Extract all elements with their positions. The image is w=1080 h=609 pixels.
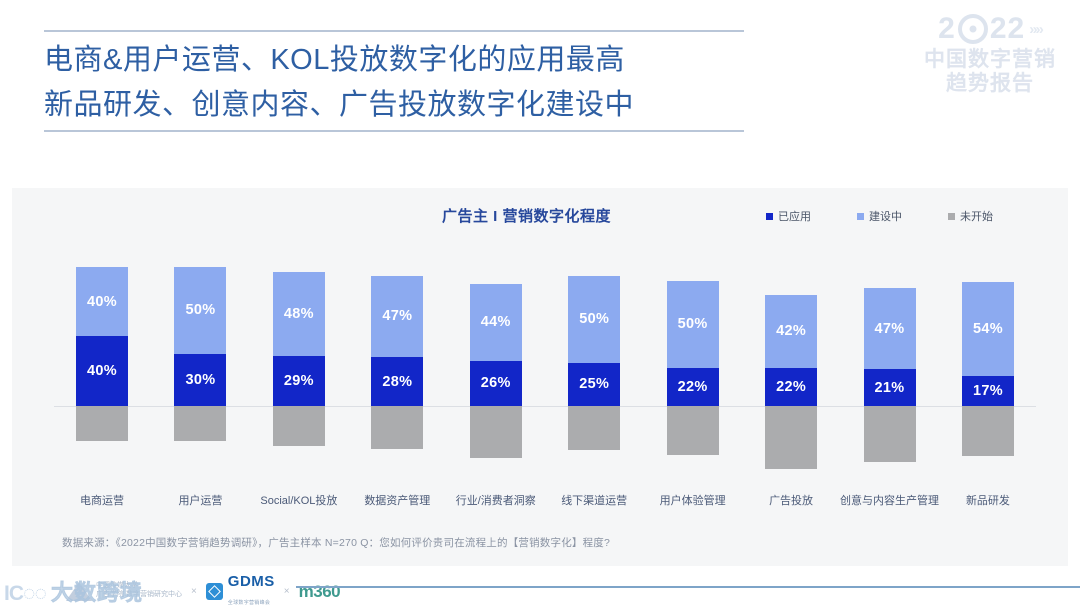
bar-segment-not-started[interactable] [765, 406, 817, 469]
bar-stack: 44%26% [470, 284, 522, 458]
bar-column[interactable]: 47%21%创意与内容生产管理 [842, 188, 938, 566]
bar-column[interactable]: 50%25%线下渠道运营 [546, 188, 642, 566]
category-label: 新品研发 [966, 492, 1010, 508]
bar-segment-applied[interactable]: 21% [864, 369, 916, 406]
bar-segment-applied[interactable]: 28% [371, 357, 423, 406]
eye-icon [958, 14, 988, 44]
bar-value-label: 26% [481, 375, 511, 391]
headline-line-2: 新品研发、创意内容、广告投放数字化建设中 [44, 85, 744, 130]
footer-rule [296, 586, 1080, 588]
bar-stack: 50%22% [667, 281, 719, 455]
bar-value-label: 47% [382, 308, 412, 324]
bar-stack: 47%21% [864, 288, 916, 462]
bar-segment-applied[interactable]: 17% [962, 376, 1014, 406]
bar-group: 40%40%电商运营50%30%用户运营48%29%Social/KOL投放47… [54, 188, 1036, 566]
bar-value-label: 44% [481, 314, 511, 330]
bar-segment-applied[interactable]: 30% [174, 354, 226, 406]
bar-value-label: 40% [87, 294, 117, 310]
bar-segment-building[interactable]: 42% [765, 295, 817, 368]
category-label: 用户体验管理 [660, 492, 726, 508]
category-label: 行业/消费者洞察 [456, 492, 536, 508]
bar-stack: 42%22% [765, 295, 817, 469]
academy-logo: 中国传媒大学 广告学院 数字营销研究中心 [66, 582, 182, 601]
bar-segment-building[interactable]: 50% [568, 276, 620, 363]
bar-value-label: 29% [284, 373, 314, 389]
chart-plot-area: 40%40%电商运营50%30%用户运营48%29%Social/KOL投放47… [12, 188, 1068, 566]
bar-segment-applied[interactable]: 40% [76, 336, 128, 406]
bar-segment-building[interactable]: 44% [470, 284, 522, 361]
bar-stack: 48%29% [273, 272, 325, 446]
bar-value-label: 25% [579, 376, 609, 392]
bar-column[interactable]: 47%28%数据资产管理 [349, 188, 445, 566]
headline-line-1: 电商&用户运营、KOL投放数字化的应用最高 [44, 32, 744, 85]
category-label: Social/KOL投放 [260, 492, 337, 508]
headline-rule-bottom [44, 130, 744, 132]
source-note: 数据来源：《2022中国数字营销趋势调研》，广告主样本 N=270 Q：您如何评… [62, 535, 610, 550]
bar-value-label: 50% [678, 316, 708, 332]
category-label: 创意与内容生产管理 [840, 492, 939, 508]
bar-value-label: 48% [284, 306, 314, 322]
logo-separator-2: × [284, 586, 290, 597]
bar-column[interactable]: 48%29%Social/KOL投放 [251, 188, 347, 566]
bar-value-label: 17% [973, 383, 1003, 399]
report-brand-watermark: 2 22 »» 中国数字营销 趋势报告 [924, 14, 1056, 94]
bar-value-label: 47% [875, 321, 905, 337]
bar-value-label: 50% [185, 302, 215, 318]
brand-line-2: 趋势报告 [924, 73, 1056, 94]
bar-stack: 54%17% [962, 282, 1014, 456]
chevrons-icon: »» [1029, 22, 1042, 37]
bar-segment-not-started[interactable] [470, 406, 522, 458]
bar-segment-not-started[interactable] [864, 406, 916, 462]
bar-column[interactable]: 44%26%行业/消费者洞察 [448, 188, 544, 566]
bar-stack: 50%30% [174, 267, 226, 441]
academy-logo-text: 中国传媒大学 广告学院 数字营销研究中心 [96, 582, 182, 600]
bar-column[interactable]: 50%30%用户运营 [152, 188, 248, 566]
academy-line-2: 广告学院 数字营销研究中心 [96, 591, 182, 598]
logo-separator-1: × [191, 586, 197, 597]
gdms-name: GDMS [228, 573, 275, 590]
bar-column[interactable]: 40%40%电商运营 [54, 188, 150, 566]
academy-line-1: 中国传媒大学 [96, 582, 138, 589]
category-label: 线下渠道运营 [561, 492, 627, 508]
bar-segment-building[interactable]: 47% [864, 288, 916, 370]
bar-column[interactable]: 42%22%广告投放 [743, 188, 839, 566]
bar-segment-not-started[interactable] [174, 406, 226, 441]
bar-segment-applied[interactable]: 29% [273, 356, 325, 406]
page-headline: 电商&用户运营、KOL投放数字化的应用最高 新品研发、创意内容、广告投放数字化建… [44, 30, 744, 132]
bar-segment-applied[interactable]: 25% [568, 363, 620, 407]
bar-value-label: 54% [973, 321, 1003, 337]
bar-segment-not-started[interactable] [371, 406, 423, 450]
bar-segment-building[interactable]: 50% [667, 281, 719, 368]
bar-value-label: 22% [776, 379, 806, 395]
bar-value-label: 50% [579, 311, 609, 327]
bar-column[interactable]: 50%22%用户体验管理 [645, 188, 741, 566]
chart-card: 广告主 I 营销数字化程度 已应用建设中未开始 40%40%电商运营50%30%… [12, 188, 1068, 566]
bar-segment-not-started[interactable] [273, 406, 325, 446]
gdms-cube-icon [206, 583, 223, 600]
brand-year-digit-2: 2 [938, 14, 956, 44]
bar-segment-building[interactable]: 47% [371, 276, 423, 358]
bar-value-label: 21% [875, 380, 905, 396]
bar-segment-applied[interactable]: 26% [470, 361, 522, 406]
bar-value-label: 42% [776, 323, 806, 339]
bar-value-label: 28% [382, 374, 412, 390]
category-label: 数据资产管理 [364, 492, 430, 508]
bar-column[interactable]: 54%17%新品研发 [940, 188, 1036, 566]
category-label: 电商运营 [80, 492, 124, 508]
gdms-subtitle: 全球数字营销峰会 [228, 600, 270, 606]
bar-segment-not-started[interactable] [962, 406, 1014, 456]
bar-segment-not-started[interactable] [667, 406, 719, 455]
brand-year: 2 22 »» [924, 14, 1056, 44]
bar-stack: 40%40% [76, 267, 128, 441]
logo-row: 中国传媒大学 广告学院 数字营销研究中心 × GDMS 全球数字营销峰会 × m… [66, 573, 340, 609]
footer-logo-strip: 中国传媒大学 广告学院 数字营销研究中心 × GDMS 全球数字营销峰会 × m… [0, 566, 1080, 608]
gdms-logo-text: GDMS 全球数字营销峰会 [228, 573, 275, 609]
category-label: 用户运营 [178, 492, 222, 508]
bar-stack: 50%25% [568, 276, 620, 450]
bar-segment-building[interactable]: 40% [76, 267, 128, 337]
academy-mark-icon [66, 582, 92, 601]
bar-segment-applied[interactable]: 22% [765, 368, 817, 406]
bar-stack: 47%28% [371, 276, 423, 450]
brand-line-1: 中国数字营销 [924, 49, 1056, 70]
bar-segment-not-started[interactable] [568, 406, 620, 450]
bar-value-label: 40% [87, 363, 117, 379]
brand-year-digits-22: 22 [990, 14, 1025, 44]
bar-segment-building[interactable]: 48% [273, 272, 325, 356]
bar-segment-not-started[interactable] [76, 406, 128, 441]
bar-value-label: 30% [185, 372, 215, 388]
bar-value-label: 22% [678, 379, 708, 395]
bar-segment-applied[interactable]: 22% [667, 368, 719, 406]
gdms-logo: GDMS 全球数字营销峰会 [206, 573, 275, 609]
bar-segment-building[interactable]: 54% [962, 282, 1014, 376]
bar-segment-building[interactable]: 50% [174, 267, 226, 354]
category-label: 广告投放 [769, 492, 813, 508]
